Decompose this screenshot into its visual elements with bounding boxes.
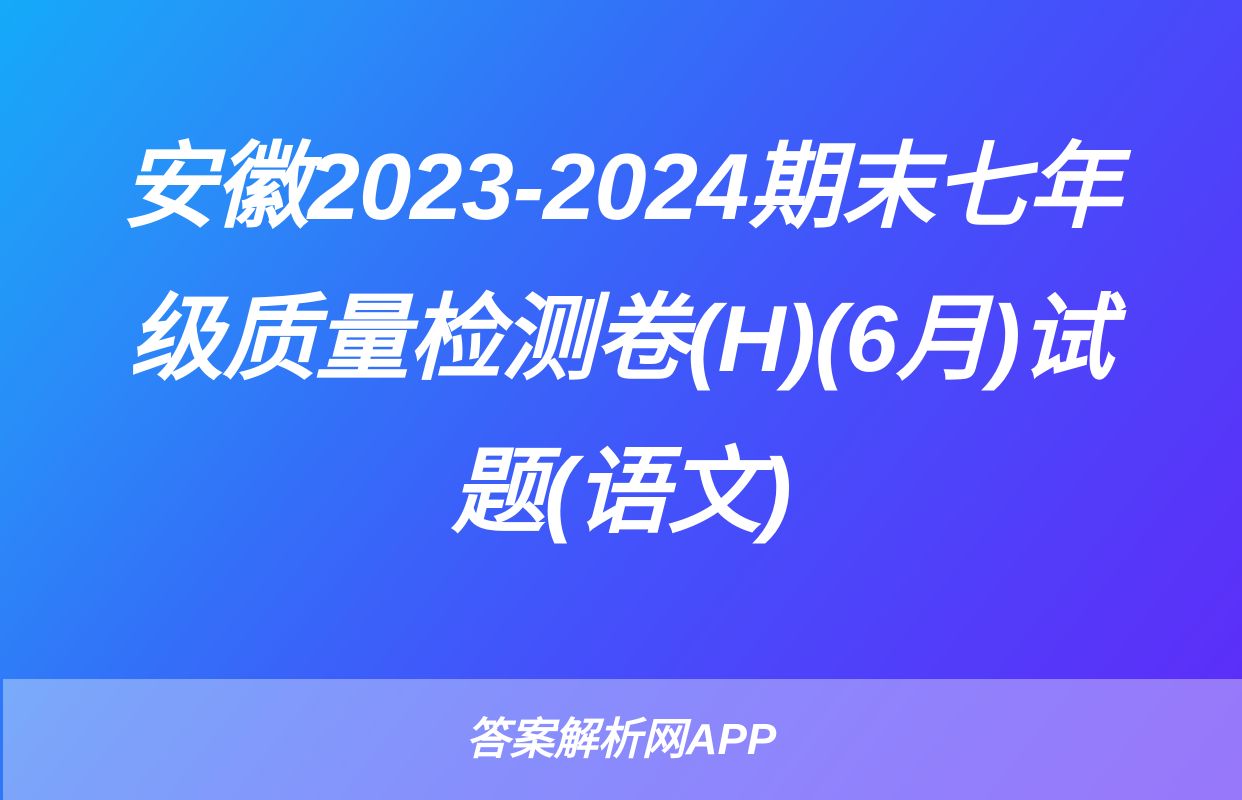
footer-watermark-band: 答案解析网APP	[0, 679, 1242, 800]
title-block: 安徽2023-2024期末七年级质量检测卷(H)(6月)试题(语文)	[0, 0, 1242, 679]
band-left-accent-bar	[0, 679, 3, 800]
watermark-label: 答案解析网APP	[466, 718, 776, 762]
page-title: 安徽2023-2024期末七年级质量检测卷(H)(6月)试题(语文)	[104, 111, 1138, 568]
poster-canvas: 安徽2023-2024期末七年级质量检测卷(H)(6月)试题(语文) 答案解析网…	[0, 0, 1242, 800]
